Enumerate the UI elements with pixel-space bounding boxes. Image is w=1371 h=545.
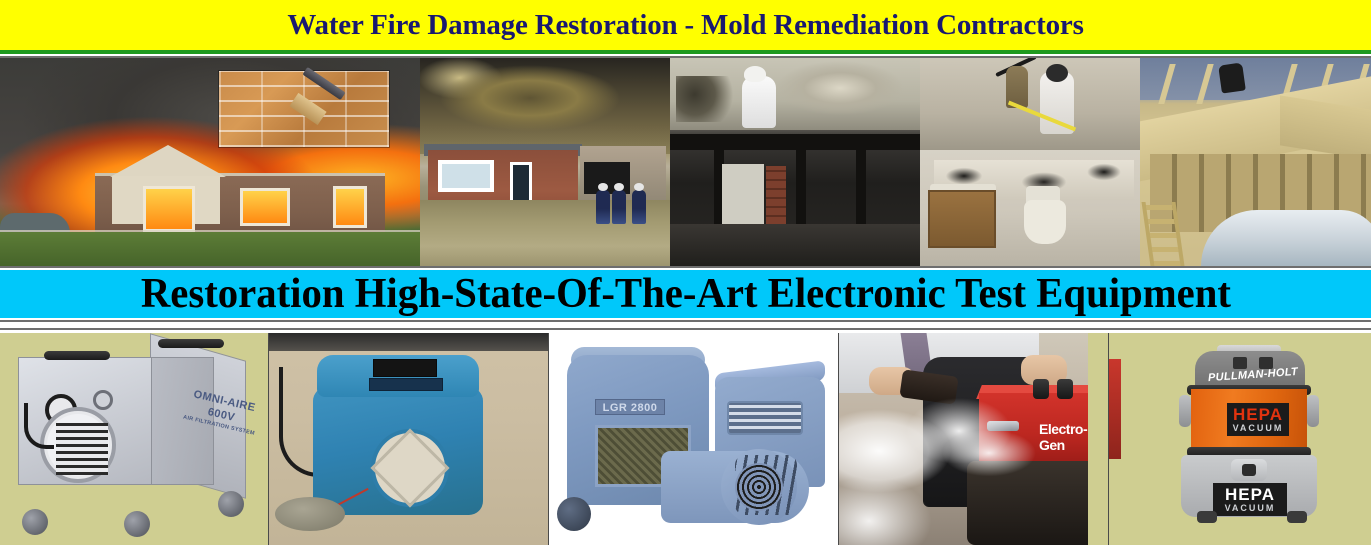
control-knob-icon [93, 390, 113, 410]
top-headline-banner: Water Fire Damage Restoration - Mold Rem… [0, 0, 1371, 50]
photo-house-fire [0, 58, 420, 266]
photo-reconstruction [1140, 58, 1371, 266]
divider-white-low-2 [0, 324, 1371, 326]
equipment-hepa-air-scrubber [268, 333, 548, 545]
air-mover-drum [721, 449, 797, 525]
toilet-bowl [1024, 200, 1066, 244]
hazmat-technician [742, 76, 776, 128]
fog-cloud [838, 391, 1049, 545]
parked-truck [1201, 210, 1371, 266]
burning-window-1 [143, 186, 195, 232]
photo-fire-damaged-interior [670, 58, 920, 266]
page-title: Water Fire Damage Restoration - Mold Rem… [287, 9, 1083, 42]
floor-baseboard [269, 333, 548, 351]
head [634, 183, 644, 191]
burnt-doorway [722, 164, 764, 224]
vacuum-inlet-port [1231, 459, 1267, 481]
bathroom-vanity [928, 190, 996, 248]
flood-resident-2 [612, 190, 626, 224]
adjacent-photo-edge [1109, 359, 1121, 459]
water-damaged-ceiling [420, 58, 670, 154]
caster-wheel-3 [218, 491, 244, 517]
head [614, 183, 624, 191]
vacuum-switch-1[interactable] [1233, 357, 1247, 369]
remediation-room [920, 58, 1140, 150]
equipment-photo-strip: OMNI-AIRE 600V AIR FILTRATION SYSTEM [0, 333, 1371, 545]
control-panel [373, 359, 437, 377]
hepa-base-label-line1: HEPA [1213, 486, 1287, 503]
fire-house-gable [110, 145, 226, 177]
vacuum-foot-left [1197, 511, 1217, 523]
floor-disc-accessory [275, 497, 345, 531]
fan-grill-icon [56, 423, 108, 475]
photo-mold-remediation [920, 58, 1140, 266]
air-mover-grill-icon [735, 463, 783, 511]
hepa-vacuum-label-base: HEPA VACUUM [1213, 483, 1287, 516]
head [598, 183, 608, 191]
flood-resident-1 [596, 190, 610, 224]
front-lawn [0, 232, 420, 266]
machine-handle-right [158, 339, 224, 348]
scrubber-intake-filter [371, 429, 449, 507]
machine-handle-left [44, 351, 110, 360]
divider-gray-low-2 [0, 328, 1371, 330]
section-title: Restoration High-State-Of-The-Art Electr… [140, 270, 1230, 318]
equipment-hepa-vacuum: PULLMAN-HOLT HEPA VACUUM HEPA VACUUM [1108, 333, 1371, 545]
flood-house-window [438, 160, 494, 192]
equipment-negative-air-machine: OMNI-AIRE 600V AIR FILTRATION SYSTEM [0, 333, 268, 545]
disaster-photo-strip [0, 58, 1371, 266]
dehumidifier-wheel [557, 497, 591, 531]
dehumidifier-model-badge: LGR 2800 [595, 399, 665, 415]
equipment-lgr-dehumidifier: LGR 2800 [548, 333, 838, 545]
vacuum-latch-right[interactable] [1307, 395, 1319, 427]
divider-gray-low-1 [0, 320, 1371, 322]
burning-window-2 [240, 188, 290, 226]
chisel-tool-icon [302, 67, 345, 100]
debris-floor [670, 224, 920, 266]
second-unit-vent [727, 401, 803, 435]
hepa-label-line2: VACUUM [1227, 424, 1289, 433]
restoration-banner-page: Water Fire Damage Restoration - Mold Rem… [0, 0, 1371, 545]
roof-carpenter [1218, 62, 1246, 93]
hepa-base-label-line2: VACUUM [1213, 504, 1287, 513]
hepa-vacuum-label-drum: HEPA VACUUM [1227, 403, 1289, 436]
flood-house-door [510, 162, 532, 204]
equipment-headline-banner: Restoration High-State-Of-The-Art Electr… [0, 270, 1371, 318]
caster-wheel-1 [22, 509, 48, 535]
vacuum-latch-left[interactable] [1179, 395, 1191, 427]
scrubber-brand-badge [369, 378, 443, 391]
chisel-blade [289, 93, 326, 125]
hazmat-hood [744, 66, 766, 82]
caster-wheel-2 [124, 511, 150, 537]
right-edge-backdrop [1088, 333, 1108, 545]
photo-flood-damage [420, 58, 670, 266]
flood-resident-3 [632, 190, 646, 224]
brick-wall-inset-photo [219, 71, 389, 147]
respirator-mask [1046, 64, 1068, 82]
charred-beam-horizontal [670, 134, 920, 150]
vacuum-foot-right [1287, 511, 1307, 523]
burning-window-3 [333, 186, 367, 228]
fogger-knob-2 [1057, 379, 1073, 399]
equipment-thermal-fogger: Electro-Gen [838, 333, 1108, 545]
ceiling-mold-patch [676, 76, 738, 122]
hepa-label-line1: HEPA [1227, 406, 1289, 423]
